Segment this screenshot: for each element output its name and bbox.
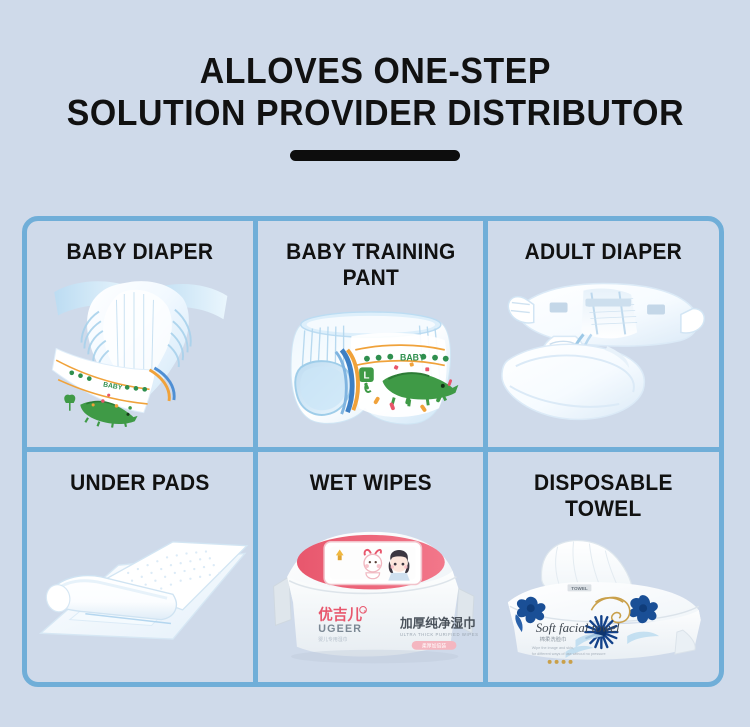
- brand-cn-text: 优吉儿: [318, 605, 362, 623]
- page-title: ALLOVES ONE-STEP SOLUTION PROVIDER DISTR…: [66, 50, 683, 134]
- page-header: ALLOVES ONE-STEP SOLUTION PROVIDER DISTR…: [0, 0, 750, 200]
- product-cn-text: 加厚纯净湿巾: [399, 615, 476, 630]
- product-badge-text: 柔厚加倍装: [422, 642, 446, 649]
- category-label-under-pads: UNDER PADS: [33, 452, 247, 496]
- towel-sub-en-1: Wipe the image and skin,: [532, 645, 574, 649]
- product-en-text: ULTRA THICK PURIFIED WIPES: [400, 632, 479, 637]
- page-title-line1: ALLOVES ONE-STEP: [199, 50, 550, 91]
- category-label-wet-wipes: WET WIPES: [263, 452, 477, 496]
- product-category-grid: BABY DIAPER: [22, 216, 724, 687]
- size-badge-label: L: [363, 371, 369, 382]
- towel-title-cn: 棉柔洗脸巾: [540, 635, 567, 643]
- page-title-line2: SOLUTION PROVIDER DISTRIBUTOR: [66, 92, 683, 134]
- svg-text:TOWEL: TOWEL: [572, 585, 589, 590]
- category-cell-disposable-towel[interactable]: DISPOSABLE TOWEL: [488, 452, 719, 683]
- category-cell-under-pads[interactable]: UNDER PADS: [27, 452, 258, 683]
- adult-diaper-image: [488, 267, 719, 447]
- category-label-disposable-towel: DISPOSABLE TOWEL: [494, 452, 713, 522]
- title-underline-bar: [290, 150, 460, 161]
- baby-diaper-image: BABY: [27, 267, 253, 447]
- disposable-towel-image: TOWEL: [488, 528, 719, 683]
- brand-sub-text: 婴儿专用湿巾: [318, 635, 347, 642]
- under-pads-image: [27, 512, 253, 683]
- category-label-baby-training-pant: BABY TRAINING PANT: [263, 221, 477, 291]
- category-cell-wet-wipes[interactable]: WET WIPES: [258, 452, 489, 683]
- category-cell-baby-training-pant[interactable]: BABY TRAINING PANT: [258, 221, 489, 452]
- category-cell-baby-diaper[interactable]: BABY DIAPER: [27, 221, 258, 452]
- category-label-adult-diaper: ADULT DIAPER: [494, 221, 713, 265]
- category-label-line1: BABY TRAINING: [286, 239, 455, 264]
- towel-sub-en-2: for different ways of use without no pre…: [532, 651, 606, 655]
- svg-text:BABY: BABY: [400, 353, 425, 363]
- category-label-line2: PANT: [342, 265, 398, 290]
- category-cell-adult-diaper[interactable]: ADULT DIAPER: [488, 221, 719, 452]
- baby-training-pant-image: BABY L: [258, 299, 484, 447]
- category-label-baby-diaper: BABY DIAPER: [33, 221, 247, 265]
- svg-text:R: R: [363, 608, 366, 613]
- category-label-line1: DISPOSABLE: [534, 470, 673, 495]
- brand-en-text: UGEER: [318, 623, 362, 635]
- category-label-line2: TOWEL: [565, 496, 642, 521]
- wet-wipes-image: 优吉儿 R UGEER 婴儿专用湿巾 加厚纯净湿巾 ULTRA THICK PU…: [258, 506, 484, 683]
- towel-title-en: Soft facial towel: [536, 620, 620, 635]
